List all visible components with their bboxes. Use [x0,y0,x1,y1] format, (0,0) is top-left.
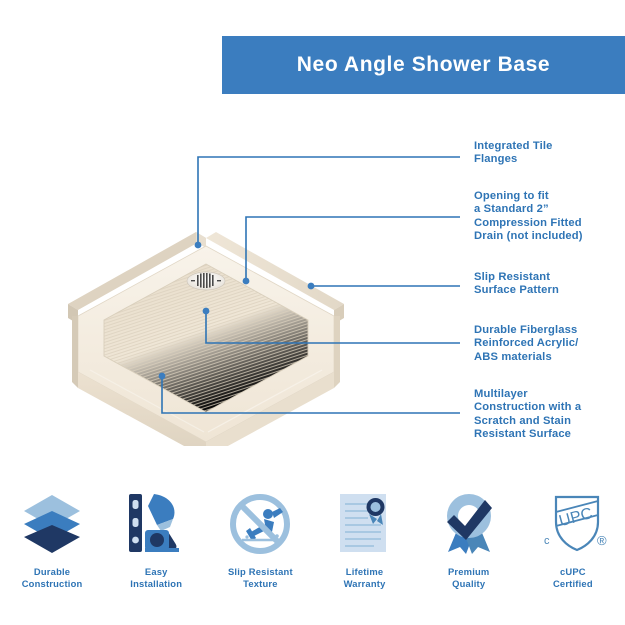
tray-right-side [334,316,340,388]
callout-label-tile-flanges: Integrated Tile Flanges [474,140,553,167]
feature-premium-quality: Premium Quality [419,488,519,589]
callout-label-drain-opening: Opening to fit a Standard 2” Compression… [474,190,583,244]
callout-label-multilayer: Multilayer Construction with a Scratch a… [474,388,581,442]
level-trowel-tape-icon [126,488,186,560]
infographic-canvas: Neo Angle Shower Base [0,0,625,625]
product-illustration [0,196,430,446]
feature-easy-installation: Easy Installation [106,488,206,589]
upc-shield-icon: UPC c ® [539,488,607,560]
feature-durable-construction: Durable Construction [2,488,102,589]
feature-label-slip-resistant: Slip Resistant Texture [228,566,293,589]
feature-cupc-certified: UPC c ® cUPC Certified [523,488,623,589]
upc-shield-text: UPC [557,505,594,530]
flange-left-top [196,232,206,248]
feature-slip-resistant: Slip Resistant Texture [210,488,310,589]
shower-base-drawing [0,196,430,446]
certificate-document-icon [336,488,394,560]
no-slip-prohibition-icon [228,488,292,560]
feature-lifetime-warranty: Lifetime Warranty [315,488,415,589]
upc-registered-mark: ® [597,533,607,548]
feature-label-easy-installation: Easy Installation [130,566,182,589]
feature-label-durable-construction: Durable Construction [22,566,83,589]
feature-label-lifetime-warranty: Lifetime Warranty [344,566,386,589]
upc-c-mark: c [544,535,550,547]
feature-label-cupc-certified: cUPC Certified [553,566,593,589]
header-banner: Neo Angle Shower Base [222,36,625,94]
callout-label-fiberglass: Durable Fiberglass Reinforced Acrylic/ A… [474,324,578,364]
stacked-layers-icon [22,488,82,560]
check-rosette-icon [438,488,500,560]
callout-label-slip-surface: Slip Resistant Surface Pattern [474,271,559,298]
page-title: Neo Angle Shower Base [297,53,550,77]
tray-left-side [72,316,78,388]
feature-badges-row: Durable Construction Easy Installati [0,488,625,608]
feature-label-premium-quality: Premium Quality [448,566,490,589]
